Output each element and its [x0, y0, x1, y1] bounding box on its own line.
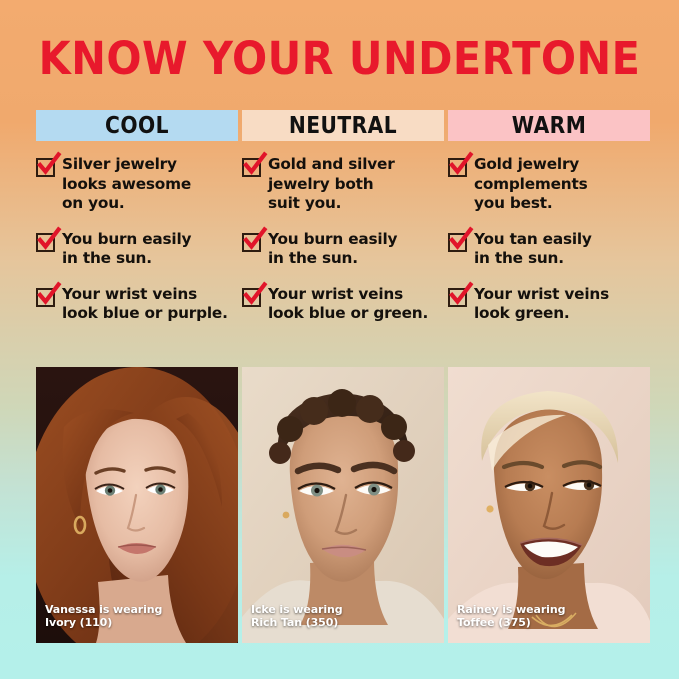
checklist-item-label: Gold jewelry complements you best.	[474, 155, 588, 214]
checklist-item-label: Silver jewelry looks awesome on you.	[62, 155, 191, 214]
model-portrait-image-neutral	[242, 367, 444, 643]
checklist-item-label: You burn easily in the sun.	[62, 230, 191, 269]
checklist-item[interactable]: You burn easily in the sun.	[36, 230, 238, 269]
photo-caption: Rainey is wearing Toffee (375)	[457, 604, 565, 629]
checklist-item-label: You burn easily in the sun.	[268, 230, 397, 269]
checklist-item[interactable]: Silver jewelry looks awesome on you.	[36, 155, 238, 214]
undertone-columns: COOL Silver jewelry looks awesome on you…	[36, 110, 645, 340]
checklist-cool: Silver jewelry looks awesome on you. You…	[36, 155, 238, 324]
checklist-item-label: Gold and silver jewelry both suit you.	[268, 155, 395, 214]
checkbox-checked-icon[interactable]	[448, 158, 467, 177]
model-photo-rainey: Rainey is wearing Toffee (375)	[448, 367, 650, 643]
photo-caption: Icke is wearing Rich Tan (350)	[251, 604, 343, 629]
page-title: KNOW YOUR UNDERTONE	[27, 33, 652, 85]
checklist-item-label: You tan easily in the sun.	[474, 230, 592, 269]
model-photo-row: Vanessa is wearing Ivory (110)	[36, 367, 645, 643]
checklist-item[interactable]: Your wrist veins look green.	[448, 285, 650, 324]
photo-caption: Vanessa is wearing Ivory (110)	[45, 604, 162, 629]
checklist-item[interactable]: Your wrist veins look blue or purple.	[36, 285, 238, 324]
checklist-item[interactable]: You tan easily in the sun.	[448, 230, 650, 269]
checklist-item-label: Your wrist veins look blue or green.	[268, 285, 428, 324]
column-cool: COOL Silver jewelry looks awesome on you…	[36, 110, 238, 340]
model-photo-vanessa: Vanessa is wearing Ivory (110)	[36, 367, 238, 643]
column-header-cool: COOL	[36, 110, 238, 141]
model-photo-icke: Icke is wearing Rich Tan (350)	[242, 367, 444, 643]
checkbox-checked-icon[interactable]	[448, 288, 467, 307]
checklist-item-label: Your wrist veins look blue or purple.	[62, 285, 228, 324]
checklist-item-label: Your wrist veins look green.	[474, 285, 609, 324]
model-portrait-image-cool	[36, 367, 238, 643]
checklist-item[interactable]: You burn easily in the sun.	[242, 230, 444, 269]
checklist-warm: Gold jewelry complements you best. You t…	[448, 155, 650, 324]
column-header-label-neutral: NEUTRAL	[254, 110, 432, 141]
checkbox-checked-icon[interactable]	[36, 233, 55, 252]
checkbox-checked-icon[interactable]	[36, 158, 55, 177]
column-header-neutral: NEUTRAL	[242, 110, 444, 141]
undertone-poster: KNOW YOUR UNDERTONE COOL Silver jewelry …	[0, 0, 679, 679]
checkbox-checked-icon[interactable]	[242, 233, 261, 252]
column-warm: WARM Gold jewelry complements you best. …	[448, 110, 650, 340]
column-header-warm: WARM	[448, 110, 650, 141]
model-portrait-image-warm	[448, 367, 650, 643]
checklist-neutral: Gold and silver jewelry both suit you. Y…	[242, 155, 444, 324]
checklist-item[interactable]: Your wrist veins look blue or green.	[242, 285, 444, 324]
checklist-item[interactable]: Gold jewelry complements you best.	[448, 155, 650, 214]
column-neutral: NEUTRAL Gold and silver jewelry both sui…	[242, 110, 444, 340]
column-header-label-cool: COOL	[48, 110, 226, 141]
checkbox-checked-icon[interactable]	[242, 288, 261, 307]
column-header-label-warm: WARM	[460, 110, 638, 141]
checkbox-checked-icon[interactable]	[448, 233, 467, 252]
checkbox-checked-icon[interactable]	[242, 158, 261, 177]
checkbox-checked-icon[interactable]	[36, 288, 55, 307]
checklist-item[interactable]: Gold and silver jewelry both suit you.	[242, 155, 444, 214]
